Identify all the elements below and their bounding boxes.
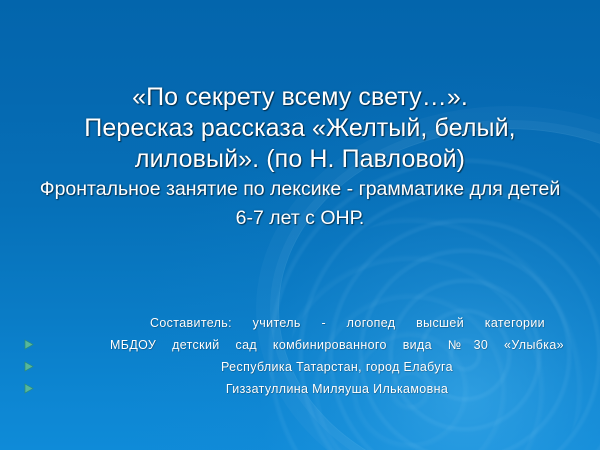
subtitle-line-2: 6-7 лет с ОНР. [0, 204, 600, 233]
subtitle-line-1: Фронтальное занятие по лексике - граммат… [0, 175, 600, 204]
chevron-bullet-icon [24, 383, 34, 394]
list-item: Составитель: учитель - логопед высшей ка… [0, 312, 600, 334]
title-line-2: Пересказ рассказа «Желтый, белый, [0, 113, 600, 144]
credit-line-author-role: Составитель: учитель - логопед высшей ка… [150, 312, 545, 334]
credit-line-author-name: Гиззатуллина Миляуша Илькамовна [110, 378, 564, 400]
list-item: МБДОУ детский сад комбинированного вида … [0, 334, 600, 356]
chevron-bullet-icon [24, 339, 34, 350]
list-item: Республика Татарстан, город Елабуга [0, 356, 600, 378]
slide-title-block: «По секрету всему свету…». Пересказ расс… [0, 82, 600, 233]
slide-content: «По секрету всему свету…». Пересказ расс… [0, 0, 600, 450]
title-line-1: «По секрету всему свету…». [0, 82, 600, 113]
chevron-bullet-icon [24, 361, 34, 372]
slide-credits-list: Составитель: учитель - логопед высшей ка… [0, 312, 600, 400]
list-item: Гиззатуллина Миляуша Илькамовна [0, 378, 600, 400]
presentation-slide: «По секрету всему свету…». Пересказ расс… [0, 0, 600, 450]
credit-line-institution: МБДОУ детский сад комбинированного вида … [110, 334, 564, 356]
credit-line-location: Республика Татарстан, город Елабуга [110, 356, 564, 378]
title-line-3: лиловый». (по Н. Павловой) [0, 144, 600, 175]
